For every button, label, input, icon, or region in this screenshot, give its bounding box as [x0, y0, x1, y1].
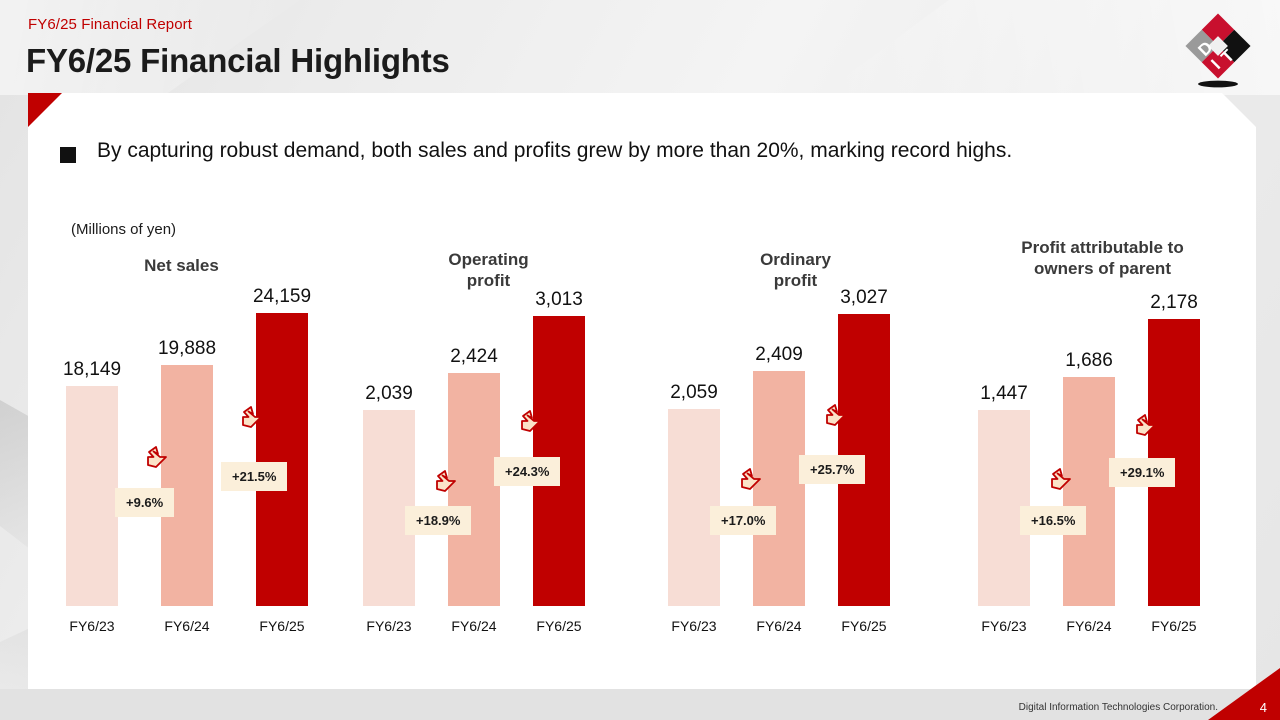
- bar-value-label: 1,686: [1065, 350, 1113, 372]
- chart-title: Ordinary profit: [642, 250, 949, 291]
- bar-value-label: 3,027: [840, 287, 888, 309]
- chart-operating-profit: Operating profit 2,039 2,424 3,013 +18.9…: [335, 240, 642, 650]
- bar-value-label: 2,424: [450, 346, 498, 368]
- growth-badge: +21.5%: [221, 462, 287, 491]
- x-axis-label: FY6/23: [646, 618, 742, 634]
- x-axis-label: FY6/24: [731, 618, 827, 634]
- chart-title: Net sales: [28, 256, 335, 277]
- page-title: FY6/25 Financial Highlights: [26, 42, 450, 80]
- chart-title: Profit attributable to owners of parent: [949, 238, 1256, 279]
- chart-net-sales: Net sales 18,149 19,888 24,159 +9.6% +21…: [28, 240, 335, 650]
- bullet-row: By capturing robust demand, both sales a…: [60, 138, 1012, 164]
- bar-value-label: 24,159: [253, 286, 311, 308]
- page-number: 4: [1260, 700, 1267, 715]
- bar-fy623: 18,149: [66, 386, 118, 606]
- growth-badge: +29.1%: [1109, 458, 1175, 487]
- x-axis-label: FY6/23: [956, 618, 1052, 634]
- x-axis-label: FY6/24: [426, 618, 522, 634]
- bullet-square-icon: [60, 147, 76, 163]
- growth-arrow-icon: [518, 408, 544, 434]
- slide-eyebrow: FY6/25 Financial Report: [28, 16, 192, 33]
- bar-value-label: 19,888: [158, 338, 216, 360]
- bar-value-label: 1,447: [980, 383, 1028, 405]
- charts-container: Net sales 18,149 19,888 24,159 +9.6% +21…: [28, 240, 1256, 650]
- growth-badge: +18.9%: [405, 506, 471, 535]
- chart-title: Operating profit: [335, 250, 642, 291]
- plot-area: 2,059 2,409 3,027 +17.0% +25.7%: [642, 316, 949, 606]
- footer-company-name: Digital Information Technologies Corpora…: [1019, 702, 1218, 713]
- bar-value-label: 2,039: [365, 383, 413, 405]
- bar-fy625: 24,159: [256, 313, 308, 606]
- growth-arrow-icon: [1048, 466, 1074, 492]
- x-axis-label: FY6/25: [816, 618, 912, 634]
- unit-label: (Millions of yen): [71, 221, 176, 238]
- x-axis-label: FY6/25: [234, 618, 330, 634]
- growth-arrow-icon: [239, 404, 265, 430]
- x-axis-label: FY6/24: [1041, 618, 1137, 634]
- bar-fy624: 19,888: [161, 365, 213, 606]
- plot-area: 2,039 2,424 3,013 +18.9% +24.3%: [335, 316, 642, 606]
- bar-value-label: 2,178: [1150, 292, 1198, 314]
- growth-arrow-icon: [1133, 412, 1159, 438]
- bullet-text: By capturing robust demand, both sales a…: [97, 138, 1012, 164]
- growth-arrow-icon: [433, 468, 459, 494]
- chart-profit-attributable: Profit attributable to owners of parent …: [949, 240, 1256, 650]
- x-axis-label: FY6/23: [44, 618, 140, 634]
- x-axis-label: FY6/25: [1126, 618, 1222, 634]
- growth-badge: +25.7%: [799, 455, 865, 484]
- x-axis-label: FY6/25: [511, 618, 607, 634]
- bar-value-label: 3,013: [535, 289, 583, 311]
- plot-area: 18,149 19,888 24,159 +9.6% +21.5%: [28, 316, 335, 606]
- growth-badge: +17.0%: [710, 506, 776, 535]
- bar-value-label: 18,149: [63, 359, 121, 381]
- growth-arrow-icon: [144, 444, 170, 470]
- plot-area: 1,447 1,686 2,178 +16.5% +29.1%: [949, 316, 1256, 606]
- growth-arrow-icon: [823, 402, 849, 428]
- bar-value-label: 2,059: [670, 382, 718, 404]
- growth-arrow-icon: [738, 466, 764, 492]
- growth-badge: +24.3%: [494, 457, 560, 486]
- x-axis-label: FY6/23: [341, 618, 437, 634]
- dit-cube-logo-icon: D I T: [1178, 8, 1258, 90]
- growth-badge: +9.6%: [115, 488, 174, 517]
- bar-value-label: 2,409: [755, 344, 803, 366]
- x-axis-label: FY6/24: [139, 618, 235, 634]
- growth-badge: +16.5%: [1020, 506, 1086, 535]
- chart-ordinary-profit: Ordinary profit 2,059 2,409 3,027 +17.0%…: [642, 240, 949, 650]
